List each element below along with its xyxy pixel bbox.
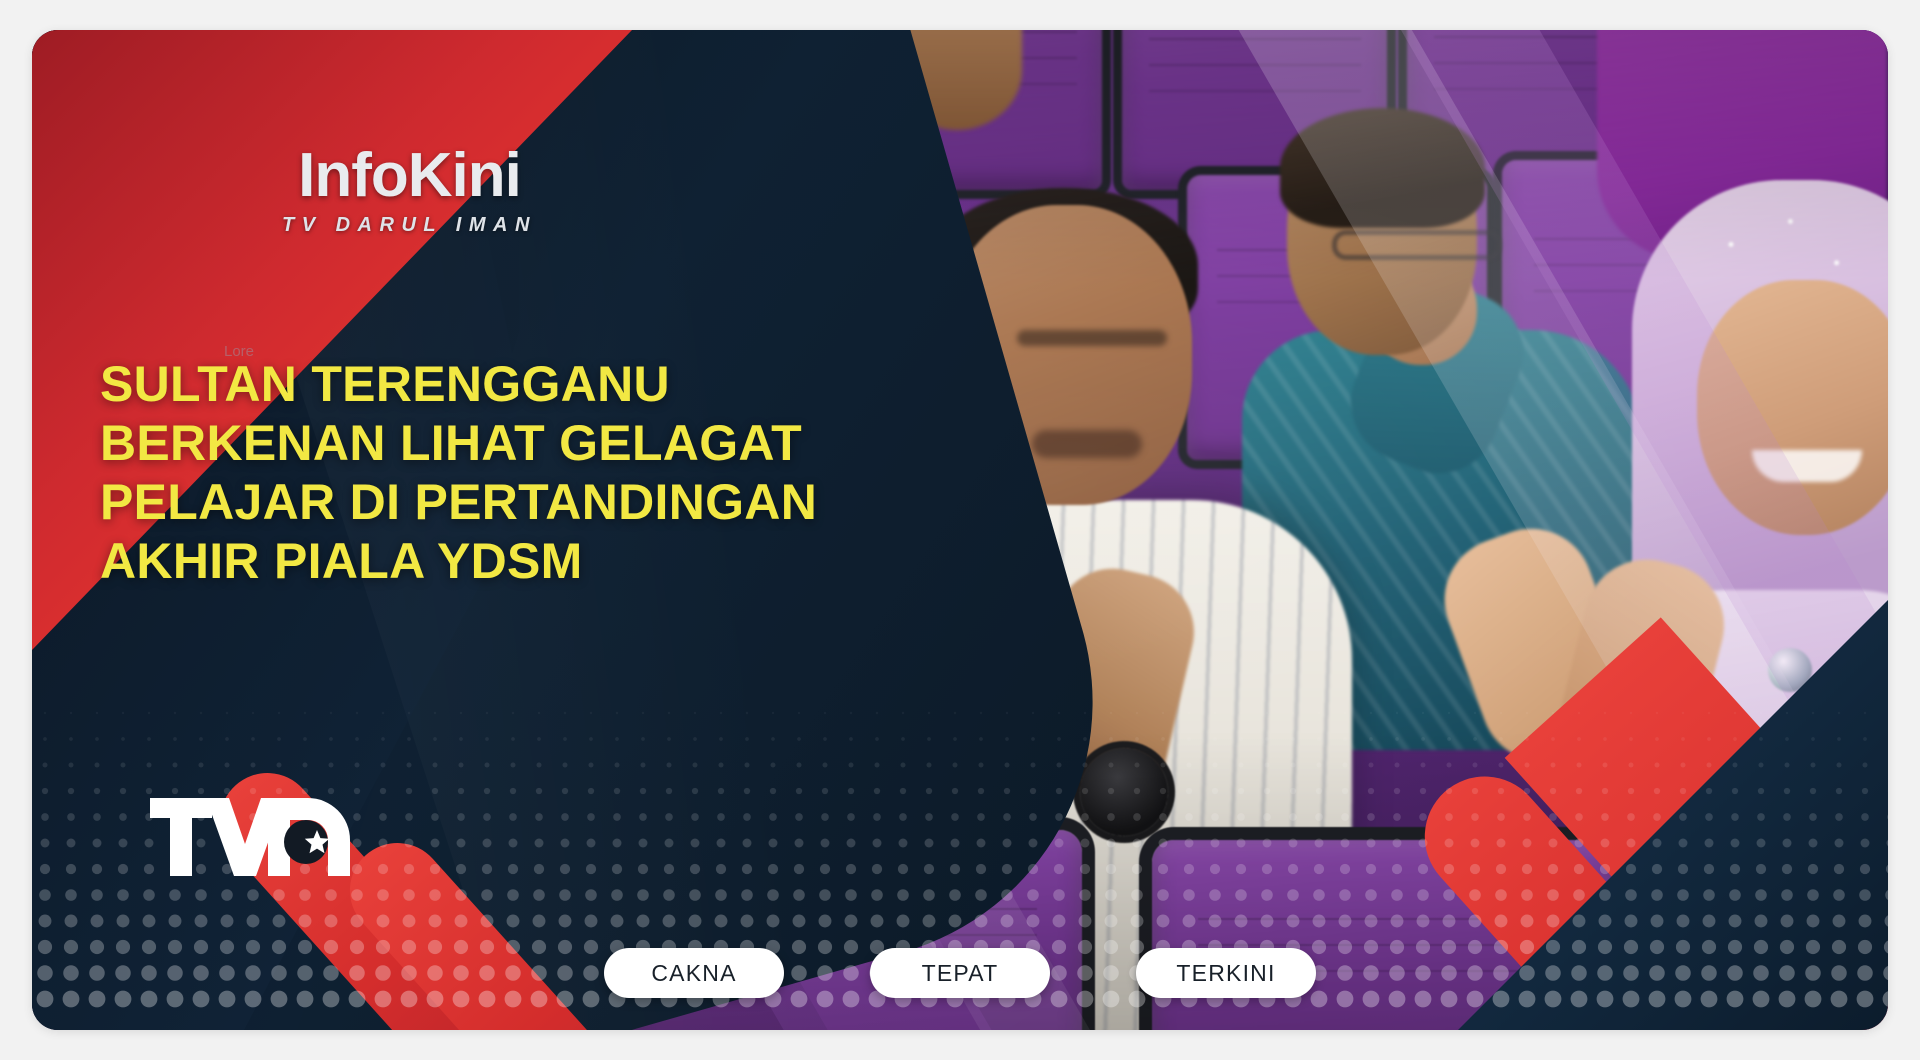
tagline-pill-tepat[interactable]: TEPAT xyxy=(870,948,1050,998)
tvd-logo xyxy=(150,794,350,880)
news-card: InfoKini TV DARUL IMAN Lore SULTAN TEREN… xyxy=(32,30,1888,1030)
headline-line: BERKENAN LIHAT GELAGAT xyxy=(100,414,860,473)
tagline-pill-row: CAKNA TEPAT TERKINI xyxy=(32,948,1888,998)
page-title: SULTAN TERENGGANU BERKENAN LIHAT GELAGAT… xyxy=(100,355,860,591)
headline-line: AKHIR PIALA YDSM xyxy=(100,532,860,591)
crescent-star-icon xyxy=(284,820,329,864)
brand-subtitle: TV DARUL IMAN xyxy=(282,214,537,237)
headline-line: PELAJAR DI PERTANDINGAN xyxy=(100,473,860,532)
headline-line: SULTAN TERENGGANU xyxy=(100,355,860,414)
screenshot-canvas: InfoKini TV DARUL IMAN Lore SULTAN TEREN… xyxy=(0,0,1920,1060)
tagline-pill-cakna[interactable]: CAKNA xyxy=(604,948,784,998)
brand-name: InfoKini xyxy=(282,145,537,207)
brand-block: InfoKini TV DARUL IMAN xyxy=(282,145,537,237)
tagline-pill-terkini[interactable]: TERKINI xyxy=(1136,948,1316,998)
